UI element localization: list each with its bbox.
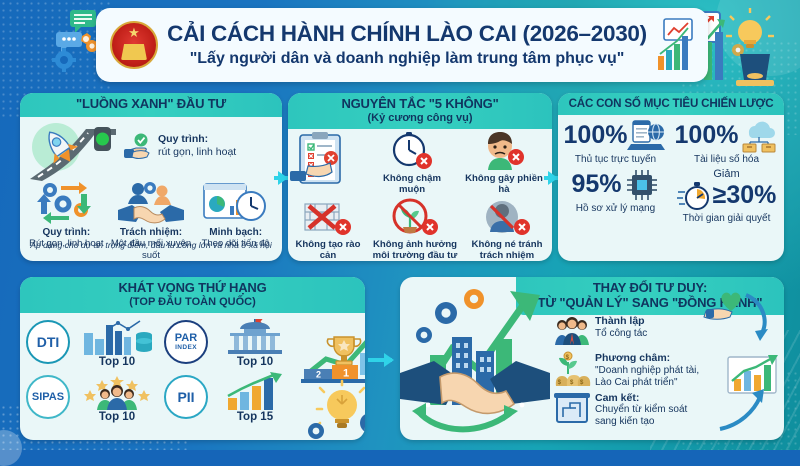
pii-badge: PII	[164, 375, 208, 419]
lightbulb-gears-icon	[300, 381, 365, 437]
sipas-badge-label: SIPAS	[32, 392, 64, 403]
panel2-item-3-label: Không ảnh hưởng môi trường đầu tư	[369, 239, 461, 261]
trophy-podium-icon: 2 1	[300, 319, 365, 383]
gears-cycle-icon	[25, 179, 107, 227]
par-rank-label: Top 10	[212, 356, 298, 368]
citizens-stars-icon	[74, 372, 160, 410]
panel4-rank-sipas: Top 10	[74, 372, 160, 423]
panel4-title: KHÁT VỌNG THỨ HẠNG	[24, 281, 361, 296]
svg-text:2: 2	[316, 369, 321, 379]
panel2-item-4: Không né tránh trách nhiệm	[466, 197, 548, 261]
clipboard-checklist-icon	[290, 131, 366, 193]
panel2-header-band: NGUYÊN TẮC "5 KHÔNG" (Kỷ cương công vụ)	[288, 93, 552, 129]
stopwatch-icon	[677, 181, 711, 211]
money-plant-icon: $ $ $ $	[554, 352, 590, 386]
panel2-item-1-label: Không gây phiền hà	[462, 173, 546, 195]
dti-rank-label: Top 10	[74, 356, 160, 368]
connector-arrow-1	[278, 171, 288, 185]
svg-text:1: 1	[343, 367, 349, 379]
header-chart-icon	[656, 18, 696, 72]
panel3-stat-0-label: Thủ tục trực tuyến	[560, 154, 671, 165]
chat-gear-cluster-icon	[48, 8, 100, 78]
rocket-greenlight-icon	[24, 121, 120, 183]
person-avoid-no-icon	[466, 197, 548, 239]
panel1-lead-text: Quy trình:rút gọn, linh hoạt	[158, 133, 236, 159]
dti-badge-label: DTI	[37, 335, 60, 349]
par-badge-label: PAR	[175, 333, 197, 344]
header-banner: CẢI CÁCH HÀNH CHÍNH LÀO CAI (2026–2030) …	[96, 8, 708, 82]
handshake-team-icon	[110, 179, 192, 227]
panel5-far-icons	[706, 277, 784, 440]
panel-cac-con-so-muc-tieu: CÁC CON SỐ MỤC TIÊU CHIẾN LƯỢC 100%	[558, 93, 784, 261]
panel2-item-2-label: Không tạo rào cản	[292, 239, 364, 261]
national-emblem-icon	[110, 21, 158, 69]
panel3-stat-3-prefix: Giảm	[671, 169, 782, 180]
panel1-lead-item: Quy trình:rút gọn, linh hoạt	[124, 133, 236, 161]
panel2-item-1: Không gây phiền hà	[462, 131, 546, 195]
panel5-item-0-text: Thành lậpTổ công tác	[595, 315, 647, 340]
panel3-stat-3-value: ≥30%	[713, 183, 777, 208]
handshake-growth-icon	[400, 277, 550, 440]
panel4-side-icons: 2 1	[300, 313, 365, 437]
cloud-archive-icon	[740, 120, 778, 152]
clock-no-icon	[370, 131, 454, 173]
page-title: CẢI CÁCH HÀNH CHÍNH LÀO CAI (2026–2030)	[162, 22, 652, 46]
panel3-stat-3-value-row: ≥30%	[671, 181, 782, 211]
panel2-subtitle: (Kỷ cương công vụ)	[292, 112, 548, 124]
panel5-item-2: Cam kết:Chuyển từ kiểm soát sang kiến tạ…	[554, 392, 700, 429]
panel5-item-1: $ $ $ $ P	[554, 352, 700, 389]
panel1-footnote: Áp dụng cho dự án trọng điểm, đầu tư côn…	[20, 240, 282, 250]
panel-nguyen-tac-5-khong: NGUYÊN TẮC "5 KHÔNG" (Kỷ cương công vụ)	[288, 93, 552, 261]
online-document-globe-icon	[629, 120, 667, 152]
panel1-body: Quy trình:rút gọn, linh hoạt	[20, 117, 282, 251]
panel3-stat-0-value-row: 100%	[560, 120, 671, 152]
panel3-stat-2-label: Hồ sơ xử lý mạng	[560, 203, 671, 214]
par-badge-sub: INDEX	[175, 344, 197, 351]
team-group-icon	[554, 315, 590, 349]
panel1-header-band: "LUỒNG XANH" ĐẦU TƯ	[20, 93, 282, 117]
plant-environment-no-icon	[369, 197, 461, 239]
blueprint-icon	[554, 392, 590, 426]
panel3-stat-1: 100% Tài liệu số hóa	[671, 118, 782, 167]
panel3-header-band: CÁC CON SỐ MỤC TIÊU CHIẾN LƯỢC	[558, 93, 784, 115]
panel3-stat-2-value-row: 95%	[560, 169, 671, 201]
person-annoyed-no-icon	[462, 131, 546, 173]
sipas-badge: SIPAS	[26, 375, 70, 419]
dashboard-clock-icon	[195, 179, 277, 227]
panel3-stat-3: Giảm ≥30% Thời gian giải quyết	[671, 167, 782, 226]
panel3-stats-grid: 100% Thủ tục trực tuyến 100%	[558, 115, 784, 229]
panel4-rank-par: Top 10	[212, 317, 298, 368]
panel5-item-2-text: Cam kết:Chuyển từ kiểm soát sang kiến tạ…	[595, 392, 700, 429]
panel4-rank-dti: Top 10	[74, 317, 160, 368]
panel2-item-0-label: Không chậm muộn	[370, 173, 454, 195]
panel4-rank-pii: Top 15	[212, 372, 298, 423]
cpu-chip-icon	[624, 169, 660, 201]
government-building-icon	[212, 317, 298, 355]
panel4-row-bottom: SIPAS	[26, 372, 298, 423]
panel4-row-top: DTI Top 10	[26, 317, 298, 368]
panel2-item-0: Không chậm muộn	[370, 131, 454, 195]
connector-arrow-3	[384, 353, 394, 367]
panel2-title: NGUYÊN TẮC "5 KHÔNG"	[292, 97, 548, 112]
connector-arrow-2	[548, 171, 558, 185]
data-city-chart-icon	[74, 317, 160, 355]
panel3-stat-0: 100% Thủ tục trực tuyến	[560, 118, 671, 167]
header-text-block: CẢI CÁCH HÀNH CHÍNH LÀO CAI (2026–2030) …	[158, 22, 656, 67]
panel5-item-1-text: Phương châm:"Doanh nghiệp phát tài, Lào …	[595, 352, 700, 389]
panel1-title: "LUỒNG XANH" ĐẦU TƯ	[24, 97, 278, 112]
panel4-body: DTI Top 10	[20, 313, 365, 437]
panel4-header-band: KHÁT VỌNG THỨ HẠNG (TOP ĐẦU TOÀN QUỐC)	[20, 277, 365, 313]
panel2-item-3: Không ảnh hưởng môi trường đầu tư	[369, 197, 461, 261]
sipas-rank-label: Top 10	[74, 411, 160, 423]
hand-approve-icon	[124, 133, 154, 161]
pii-badge-label: PII	[177, 390, 194, 404]
panel2-item-4-label: Không né tránh trách nhiệm	[466, 239, 548, 261]
panel3-stat-1-label: Tài liệu số hóa	[671, 154, 782, 165]
panel3-stat-1-value-row: 100%	[671, 120, 782, 152]
panel5-item-0: Thành lậpTổ công tác	[554, 315, 700, 349]
panel3-stat-0-value: 100%	[564, 123, 628, 148]
wall-barrier-no-icon	[292, 197, 364, 239]
dti-badge: DTI	[26, 320, 70, 364]
panel-luong-xanh-dau-tu: "LUỒNG XANH" ĐẦU TƯ	[20, 93, 282, 261]
panel3-stat-2-value: 95%	[571, 172, 621, 197]
panel3-stat-2: 95% Hồ sơ xử lý mạng	[560, 167, 671, 226]
panel4-rankings: DTI Top 10	[20, 313, 300, 437]
panel4-subtitle: (TOP ĐẦU TOÀN QUỐC)	[24, 296, 361, 308]
par-index-badge: PAR INDEX	[164, 320, 208, 364]
pii-rank-label: Top 15	[212, 411, 298, 423]
panel-thay-doi-tu-duy: THAY ĐỔI TƯ DUY: TỪ "QUẢN LÝ" SANG "ĐỒNG…	[400, 277, 784, 440]
panel3-stat-3-label: Thời gian giải quyết	[671, 213, 782, 224]
panel-khat-vong-thu-hang: KHÁT VỌNG THỨ HẠNG (TOP ĐẦU TOÀN QUỐC) D…	[20, 277, 365, 440]
page-subtitle: "Lấy người dân và doanh nghiệp làm trung…	[162, 50, 652, 68]
panel3-stat-1-value: 100%	[675, 123, 739, 148]
growth-bars-arrow-icon	[212, 372, 298, 410]
panel2-item-2: Không tạo rào cản	[292, 197, 364, 261]
panel2-body: Không chậm muộn Khô	[288, 129, 552, 251]
panel3-title: CÁC CON SỐ MỤC TIÊU CHIẾN LƯỢC	[562, 97, 780, 110]
